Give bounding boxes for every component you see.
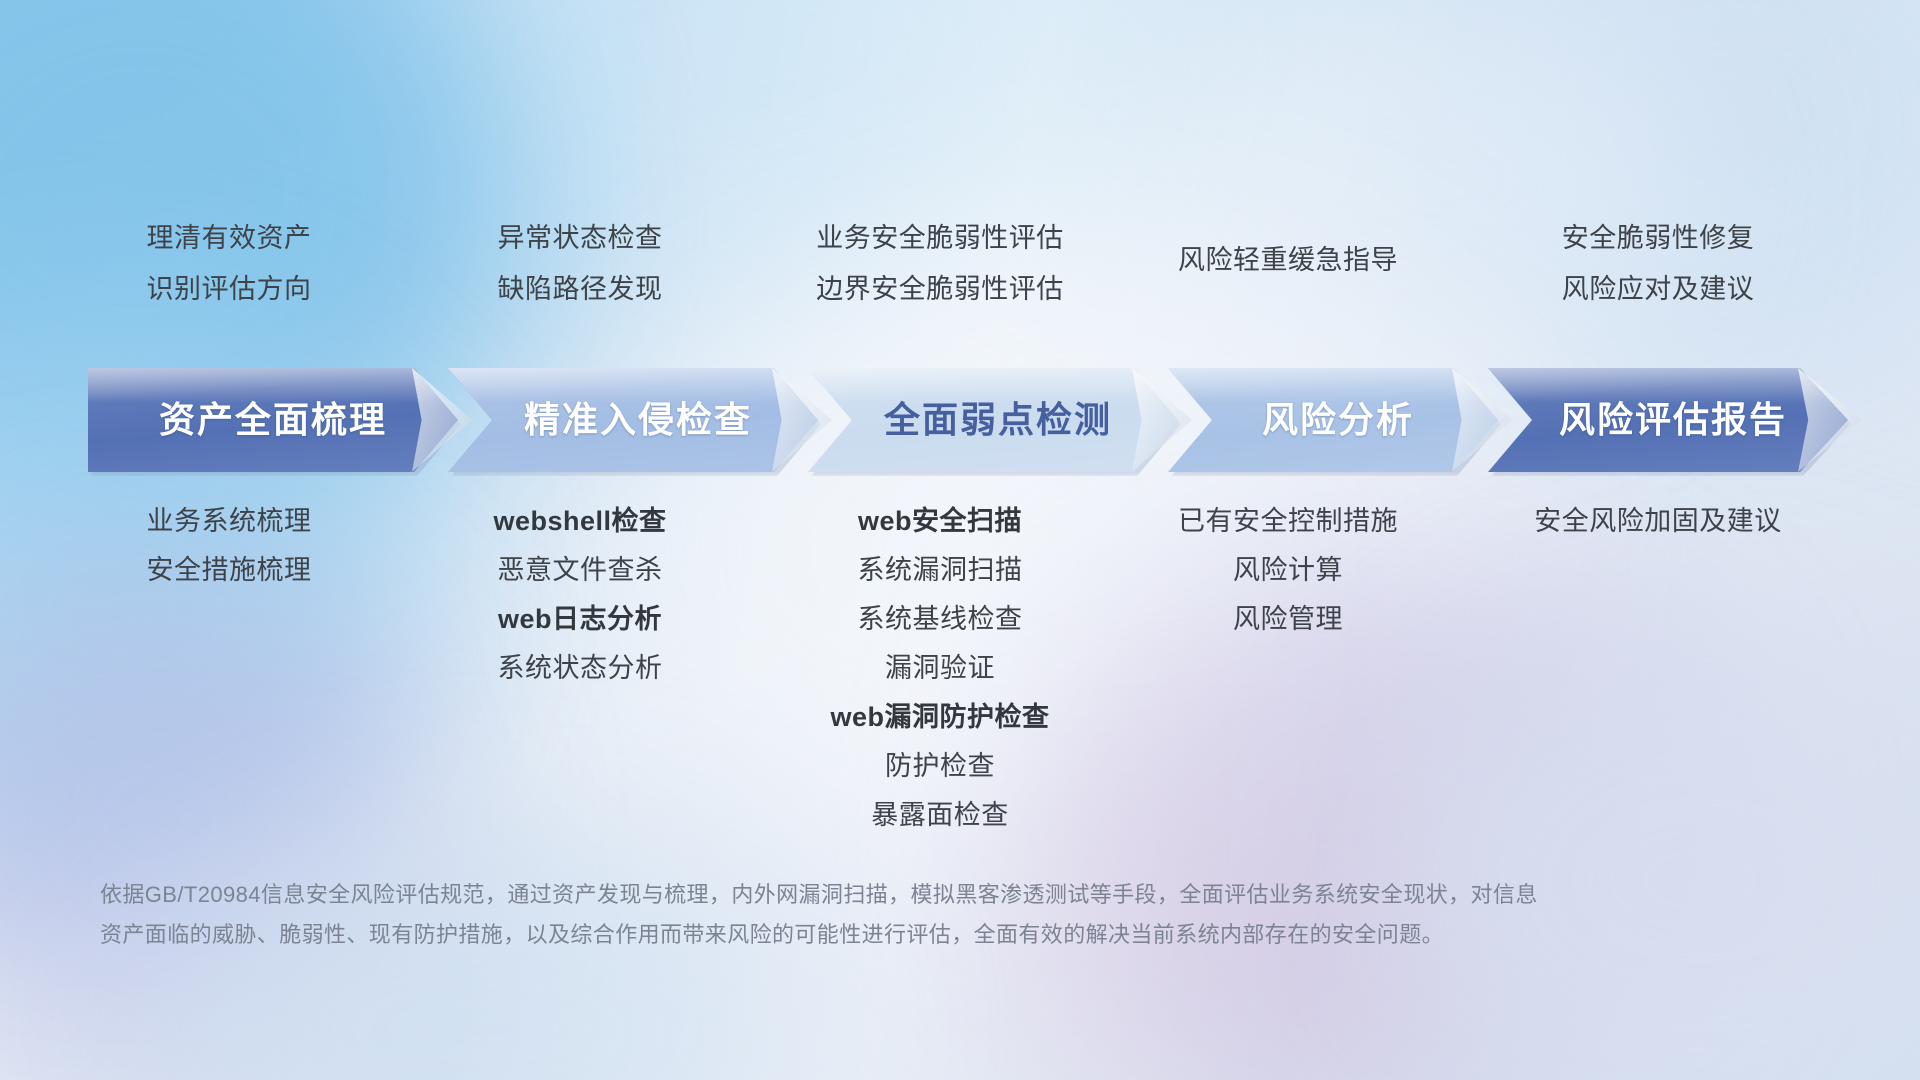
- stage-3-label: 全面弱点检测: [884, 402, 1112, 438]
- bottom-caption: 风险管理: [1233, 606, 1343, 633]
- top-caption: 异常状态检查: [498, 225, 663, 252]
- bottom-caption: 业务系统梳理: [147, 508, 312, 535]
- bottom-caption: 系统状态分析: [498, 655, 663, 682]
- top-caption: 业务安全脆弱性评估: [816, 225, 1064, 252]
- bottom-caption: 恶意文件查杀: [498, 557, 663, 584]
- bottom-caption: web日志分析: [498, 606, 662, 633]
- bottom-caption: web安全扫描: [858, 508, 1022, 535]
- top-captions-row: 理清有效资产识别评估方向异常状态检查缺陷路径发现业务安全脆弱性评估边界安全脆弱性…: [0, 225, 1920, 345]
- stage-5-bottom-captions: 安全风险加固及建议: [1408, 508, 1908, 557]
- bottom-caption: 防护检查: [885, 753, 995, 780]
- stage-4-label: 风险分析: [1262, 402, 1414, 438]
- bottom-caption: 系统基线检查: [858, 606, 1023, 633]
- bottom-caption: 暴露面检查: [871, 802, 1009, 829]
- bottom-caption: 安全风险加固及建议: [1534, 508, 1782, 535]
- top-caption: 边界安全脆弱性评估: [816, 276, 1064, 303]
- stage-5-label: 风险评估报告: [1559, 402, 1787, 438]
- top-caption: 风险应对及建议: [1562, 276, 1755, 303]
- stage-1-chevron[interactable]: 资产全面梳理: [88, 368, 458, 472]
- bottom-caption: webshell检查: [493, 508, 666, 535]
- bottom-caption: 漏洞验证: [885, 655, 995, 682]
- process-chevron-band: 资产全面梳理精准入侵检查全面弱点检测风险分析风险评估报告: [0, 368, 1920, 472]
- bottom-caption: 安全措施梳理: [147, 557, 312, 584]
- stage-1-label: 资产全面梳理: [159, 402, 387, 438]
- stage-4-chevron[interactable]: 风险分析: [1168, 368, 1498, 472]
- footer-line-1: 依据GB/T20984信息安全风险评估规范，通过资产发现与梳理，内外网漏洞扫描，…: [100, 875, 1740, 915]
- top-caption: 理清有效资产: [147, 225, 312, 252]
- stage-5-top-captions: 安全脆弱性修复风险应对及建议: [1408, 225, 1908, 327]
- stage-5-chevron[interactable]: 风险评估报告: [1488, 368, 1848, 472]
- top-caption: 风险轻重缓急指导: [1178, 247, 1398, 274]
- stage-3-chevron[interactable]: 全面弱点检测: [808, 368, 1178, 472]
- top-caption: 识别评估方向: [147, 276, 312, 303]
- top-caption: 安全脆弱性修复: [1562, 225, 1755, 252]
- bottom-caption: 系统漏洞扫描: [858, 557, 1023, 584]
- top-caption: 缺陷路径发现: [498, 276, 663, 303]
- footer-line-2: 资产面临的威胁、脆弱性、现有防护措施，以及综合作用而带来风险的可能性进行评估，全…: [100, 915, 1740, 955]
- stage-2-label: 精准入侵检查: [524, 402, 752, 438]
- footer-description: 依据GB/T20984信息安全风险评估规范，通过资产发现与梳理，内外网漏洞扫描，…: [100, 875, 1740, 955]
- bottom-caption: 风险计算: [1233, 557, 1343, 584]
- stage-2-chevron[interactable]: 精准入侵检查: [448, 368, 818, 472]
- bottom-caption: web漏洞防护检查: [830, 704, 1049, 731]
- bottom-caption: 已有安全控制措施: [1178, 508, 1398, 535]
